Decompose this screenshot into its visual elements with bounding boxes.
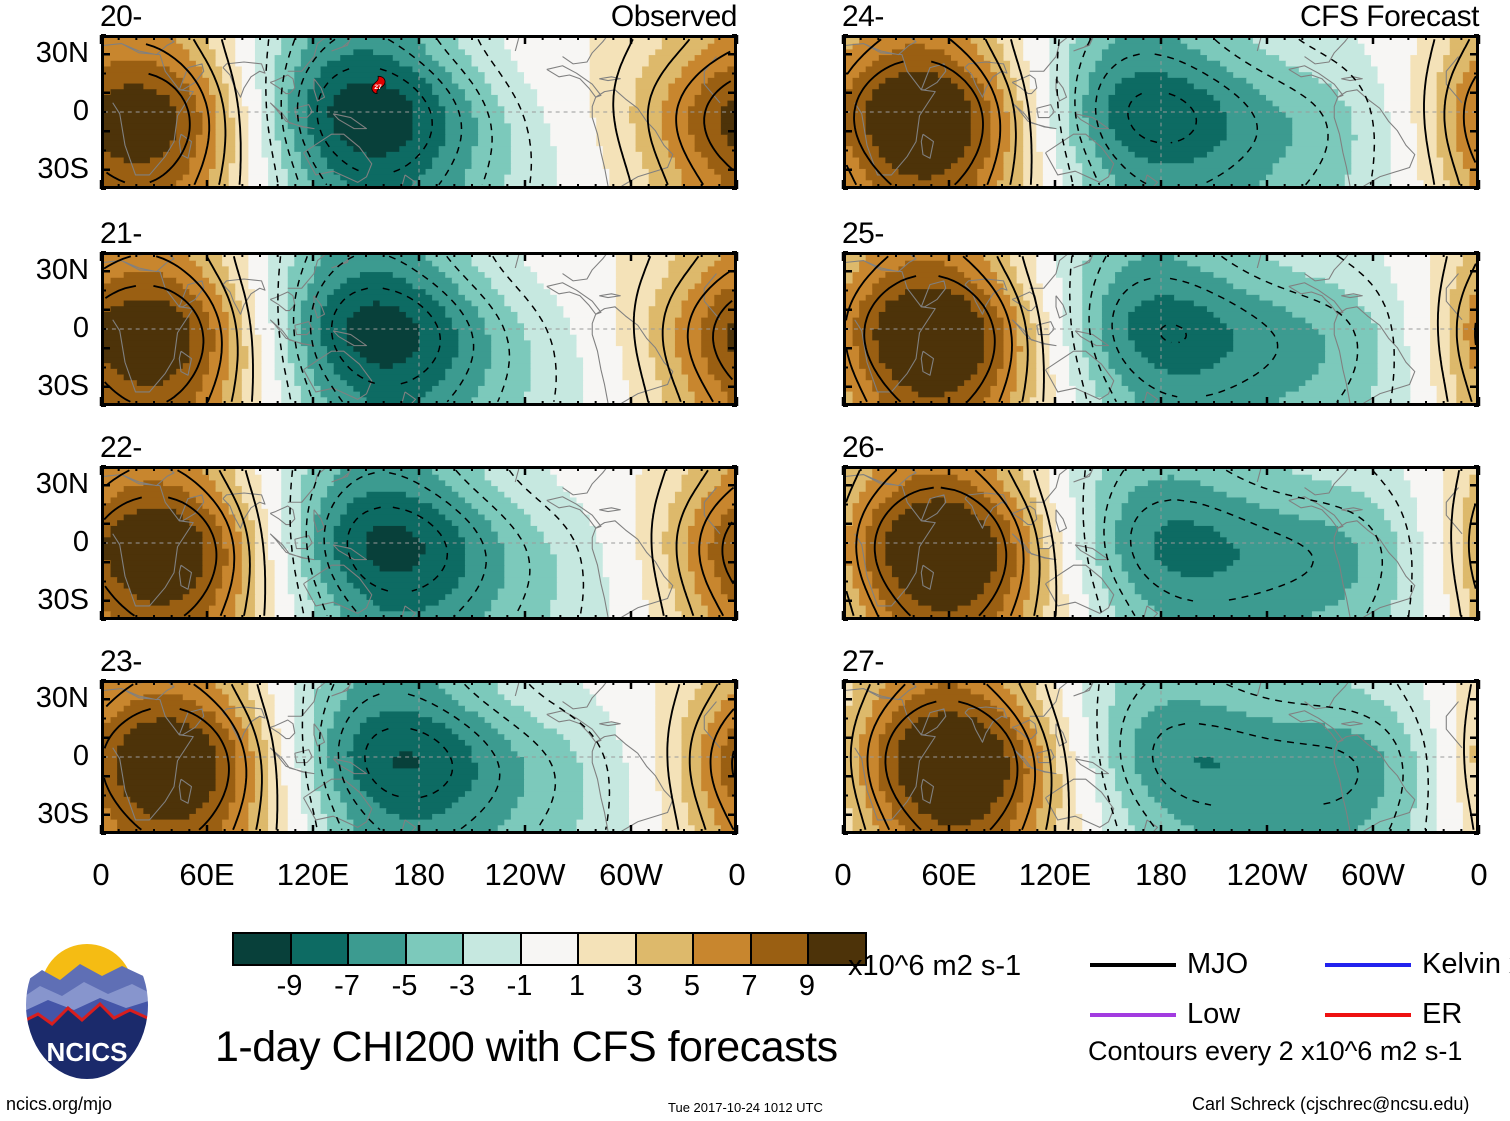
footer-author: Carl Schreck (cjschrec@ncsu.edu) — [1192, 1095, 1469, 1113]
contour-interval-note: Contours every 2 x10^6 m2 s-1 — [1088, 1038, 1462, 1065]
footer-timestamp: Tue 2017-10-24 1012 UTC — [668, 1099, 823, 1117]
colorbar-swatch-9 — [752, 934, 810, 964]
map-panel-22-oct — [101, 466, 737, 620]
colorbar-units-label: x10^6 m2 s-1 — [848, 952, 1021, 981]
legend-label-kelvin: Kelvin x2 — [1422, 950, 1510, 979]
legend-line-er — [1325, 1013, 1411, 1017]
ncics-logo: NCICS — [22, 928, 152, 1083]
legend-line-kelvin — [1325, 963, 1411, 967]
colorbar-swatch-8 — [694, 934, 752, 964]
map-panel-23-oct — [101, 680, 737, 834]
x-axis-tick-60E-col0: 60E — [152, 859, 262, 890]
map-panel-21-oct — [101, 252, 737, 406]
y-axis-tick-0: 0 — [3, 742, 89, 771]
x-axis-tick-60W-col0: 60W — [576, 859, 686, 890]
colorbar-swatch-4 — [464, 934, 522, 964]
svg-text:27: 27 — [374, 84, 382, 91]
map-panel-25-oct — [843, 252, 1479, 406]
x-axis-tick-60W-col1: 60W — [1318, 859, 1428, 890]
colorbar-swatch-3 — [407, 934, 465, 964]
y-axis-tick-0: 0 — [3, 314, 89, 343]
logo-text: NCICS — [47, 1037, 128, 1067]
colorbar-tick--3: -3 — [442, 972, 482, 1001]
colorbar-tick-9: 9 — [787, 972, 827, 1001]
x-axis-tick-0-col1: 0 — [1424, 859, 1510, 890]
map-panel-24-oct — [843, 35, 1479, 189]
y-axis-tick-30S: 30S — [3, 372, 89, 401]
x-axis-tick-120W-col0: 120W — [470, 859, 580, 890]
y-axis-tick-30N: 30N — [3, 39, 89, 68]
colorbar-tick--7: -7 — [327, 972, 367, 1001]
x-axis-tick-0-col0: 0 — [46, 859, 156, 890]
colorbar-swatch-1 — [292, 934, 350, 964]
legend-item-kelvin: Kelvin x2 — [1325, 950, 1510, 979]
legend-label-low: Low — [1187, 1000, 1240, 1029]
y-axis-tick-0: 0 — [3, 528, 89, 557]
colorbar-swatch-5 — [522, 934, 580, 964]
colorbar-swatch-2 — [349, 934, 407, 964]
column-header-observed: Observed — [101, 2, 737, 32]
y-axis-tick-30S: 30S — [3, 800, 89, 829]
colorbar-tick-5: 5 — [672, 972, 712, 1001]
colorbar-swatch-0 — [234, 934, 292, 964]
legend-item-er: ER — [1325, 1000, 1462, 1029]
legend-item-low: Low — [1090, 1000, 1240, 1029]
y-axis-tick-30S: 30S — [3, 586, 89, 615]
colorbar — [232, 932, 867, 966]
legend-line-mjo — [1090, 963, 1176, 967]
y-axis-tick-30N: 30N — [3, 684, 89, 713]
colorbar-tick--5: -5 — [385, 972, 425, 1001]
legend-line-low — [1090, 1013, 1176, 1017]
colorbar-swatch-7 — [637, 934, 695, 964]
x-axis-tick-120E-col1: 120E — [1000, 859, 1110, 890]
x-axis-tick-60E-col1: 60E — [894, 859, 1004, 890]
x-axis-tick-120E-col0: 120E — [258, 859, 368, 890]
y-axis-tick-0: 0 — [3, 97, 89, 126]
x-axis-tick-120W-col1: 120W — [1212, 859, 1322, 890]
y-axis-tick-30N: 30N — [3, 256, 89, 285]
legend-label-mjo: MJO — [1187, 950, 1248, 979]
legend-item-mjo: MJO — [1090, 950, 1248, 979]
x-axis-tick-180-col0: 180 — [364, 859, 474, 890]
figure-main-title: 1-day CHI200 with CFS forecasts — [215, 1026, 838, 1069]
colorbar-tick-1: 1 — [557, 972, 597, 1001]
map-panel-20-oct: 27 — [101, 35, 737, 189]
map-panel-26-oct — [843, 466, 1479, 620]
column-header-forecast: CFS Forecast — [843, 2, 1479, 32]
x-axis-tick-180-col1: 180 — [1106, 859, 1216, 890]
colorbar-swatch-6 — [579, 934, 637, 964]
y-axis-tick-30S: 30S — [3, 155, 89, 184]
x-axis-tick-0-col0: 0 — [682, 859, 792, 890]
legend-label-er: ER — [1422, 1000, 1462, 1029]
footer-site-link[interactable]: ncics.org/mjo — [6, 1095, 112, 1113]
colorbar-tick--9: -9 — [270, 972, 310, 1001]
x-axis-tick-0-col1: 0 — [788, 859, 898, 890]
colorbar-tick-7: 7 — [730, 972, 770, 1001]
map-panel-27-oct — [843, 680, 1479, 834]
colorbar-tick-3: 3 — [615, 972, 655, 1001]
y-axis-tick-30N: 30N — [3, 470, 89, 499]
colorbar-tick--1: -1 — [500, 972, 540, 1001]
